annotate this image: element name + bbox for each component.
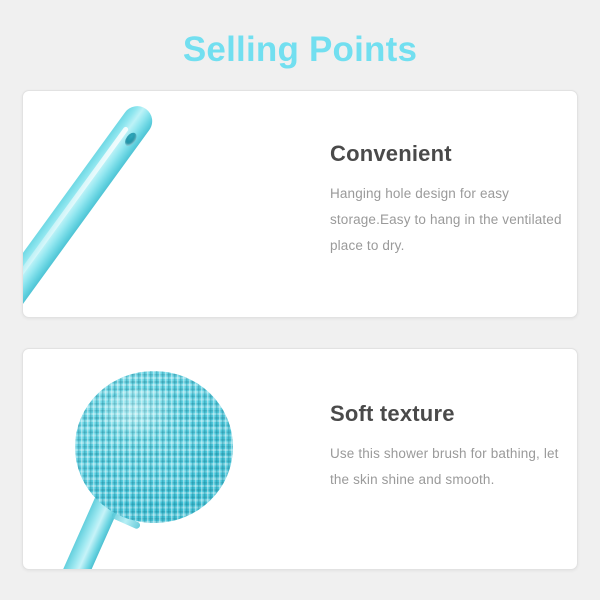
selling-points-page: Selling Points Convenient Hanging hole d… xyxy=(0,0,600,600)
handle-rod-shape xyxy=(23,100,158,317)
product-image-handle xyxy=(23,91,313,317)
feature-card-convenient: Convenient Hanging hole design for easy … xyxy=(22,90,578,318)
feature-text-soft-texture: Soft texture Use this shower brush for b… xyxy=(308,349,578,569)
feature-text-convenient: Convenient Hanging hole design for easy … xyxy=(308,91,578,317)
feature-heading: Convenient xyxy=(330,141,452,167)
feature-card-soft-texture: Soft texture Use this shower brush for b… xyxy=(22,348,578,570)
feature-heading: Soft texture xyxy=(330,401,455,427)
brush-head-illustration xyxy=(23,349,313,569)
page-title: Selling Points xyxy=(0,28,600,72)
feature-description: Hanging hole design for easy storage.Eas… xyxy=(330,181,565,259)
feature-description: Use this shower brush for bathing, let t… xyxy=(330,441,565,493)
product-image-brush-head xyxy=(23,349,313,569)
brush-head-disc xyxy=(75,371,233,523)
brush-head-highlight xyxy=(103,389,179,441)
handle-highlight xyxy=(23,126,129,317)
brush-handle-illustration xyxy=(23,91,313,317)
